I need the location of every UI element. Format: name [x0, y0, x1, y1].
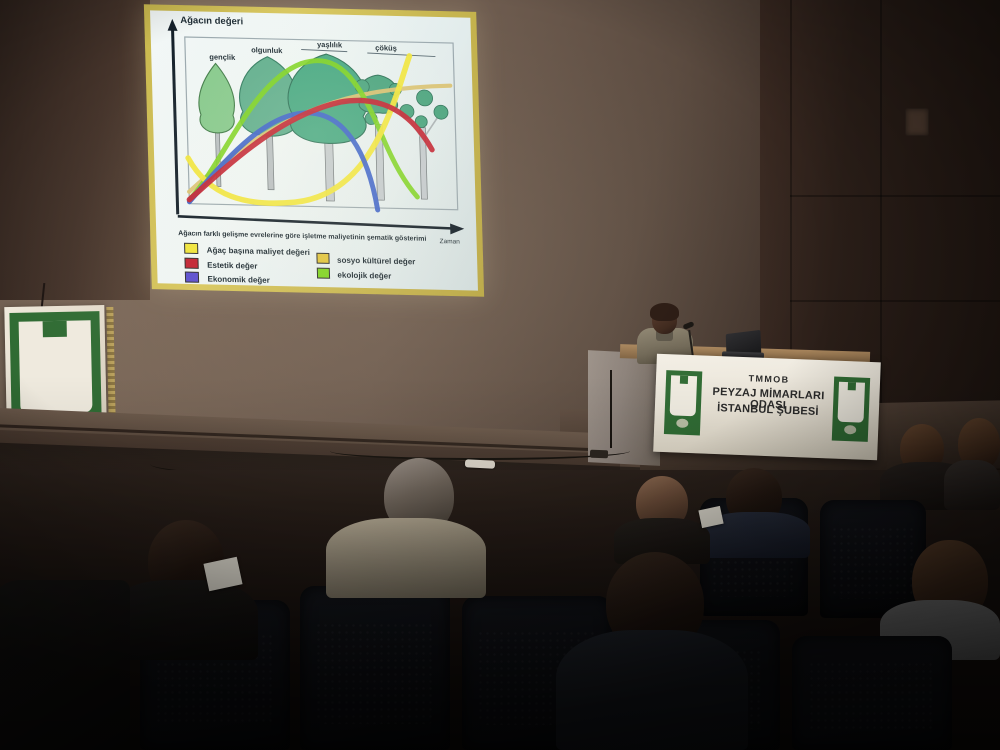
seat[interactable] — [792, 636, 952, 750]
speaker-hair — [650, 303, 679, 321]
audience-shoulders — [944, 460, 1000, 510]
slide-x-axis-label: Zaman — [439, 238, 460, 245]
slide-stage-label-olgunluk: olgunluk — [251, 45, 283, 55]
pennant-logo-notch — [43, 321, 67, 337]
audience-shoulders — [108, 580, 258, 660]
slide-stage-label-yaslilik: yaşlılık — [317, 40, 343, 50]
seat[interactable] — [300, 586, 450, 750]
projection-screen: Ağacın değeri gençlik olgunluk yaşlılık … — [144, 4, 484, 296]
wall-seam — [790, 300, 1000, 302]
wall-seam — [880, 0, 882, 470]
banner-logo-right — [832, 377, 870, 442]
banner-org: TMMOB — [704, 373, 834, 387]
slide-stage-label-cokus: çöküş — [375, 43, 397, 52]
seat[interactable] — [820, 500, 926, 618]
projected-slide: Ağacın değeri gençlik olgunluk yaşlılık … — [150, 10, 478, 290]
wall-seam — [790, 195, 1000, 197]
slide-chart: Ağacın değeri gençlik olgunluk yaşlılık … — [150, 10, 478, 290]
banner-logo-notch — [848, 382, 856, 390]
wall-speaker-box — [905, 108, 929, 136]
left-wall-panel — [0, 0, 150, 300]
slide-caption: Ağacın farklı gelişme evrelerine göre iş… — [178, 230, 426, 243]
banner-logo-seal — [844, 425, 856, 434]
legend-label-4: ekolojik değer — [337, 271, 391, 281]
audience-coat — [0, 580, 130, 750]
banner-logo-left — [664, 370, 702, 435]
audience-shoulders — [326, 518, 486, 598]
auditorium-photo: Ağacın değeri gençlik olgunluk yaşlılık … — [0, 0, 1000, 750]
slide-y-axis-label: Ağacın değeri — [180, 15, 243, 27]
legend-label-2: Ekonomik değer — [207, 275, 269, 285]
banner-line2: İSTANBUL ŞUBESİ — [703, 403, 833, 419]
banner-logo-notch — [680, 376, 688, 384]
power-strip — [465, 459, 495, 469]
podium-cable — [610, 370, 626, 448]
legend-label-0: Ağaç başına maliyet değeri — [207, 246, 310, 257]
legend-label-3: sosyo kültürel değer — [337, 256, 416, 267]
legend-label-1: Estetik değer — [207, 261, 257, 271]
floor-plug-box — [590, 450, 608, 459]
audience-shoulders — [556, 630, 748, 750]
banner-logo-seal — [676, 419, 688, 428]
slide-stage-label-genclik: gençlik — [209, 52, 236, 62]
event-banner: TMMOB PEYZAJ MİMARLARI ODASI İSTANBUL ŞU… — [653, 354, 881, 461]
floor-cable — [330, 442, 630, 460]
